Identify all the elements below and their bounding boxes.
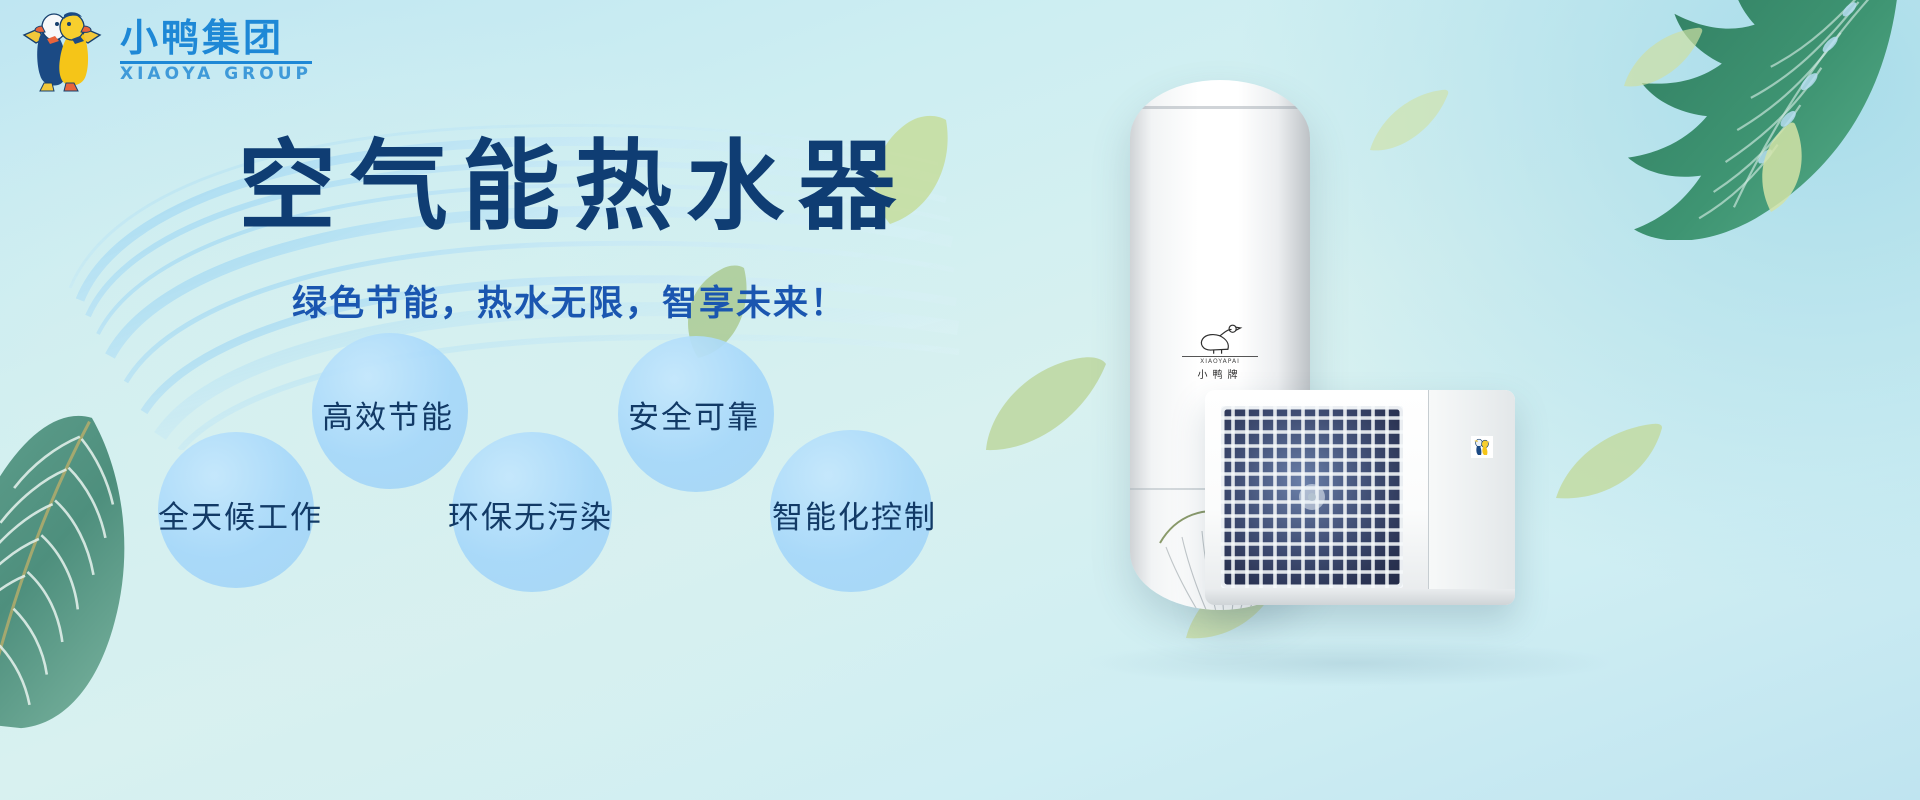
monstera-leaf-icon bbox=[1600, 0, 1920, 240]
tank-brand-cn: 小鸭牌 bbox=[1182, 366, 1258, 381]
feature-label-high-efficiency: 高效节能 bbox=[322, 392, 454, 437]
outdoor-side-panel bbox=[1428, 390, 1515, 605]
tank-brand-mark: XIAOYAPAI 小鸭牌 bbox=[1182, 323, 1258, 381]
tank-brand-en: XIAOYAPAI bbox=[1182, 356, 1258, 365]
logo-english-text: XIAOYA GROUP bbox=[120, 66, 312, 83]
fan-grille-lines-icon bbox=[1221, 406, 1403, 588]
duck-pair-badge-icon bbox=[1471, 436, 1493, 458]
duck-outline-icon bbox=[1190, 323, 1250, 355]
product-image: XIAOYAPAI 小鸭牌 bbox=[1085, 60, 1605, 680]
floating-leaf-icon bbox=[1745, 120, 1815, 216]
outdoor-unit bbox=[1205, 390, 1515, 605]
banner-root: 小鸭集团 XIAOYA GROUP 空气能热水器 绿色节能，热水无限，智享未来！… bbox=[0, 0, 1920, 800]
brand-logo[interactable]: 小鸭集团 XIAOYA GROUP bbox=[14, 8, 312, 94]
logo-chinese-text: 小鸭集团 bbox=[120, 19, 312, 59]
feature-label-eco-friendly: 环保无污染 bbox=[448, 492, 613, 537]
tank-top-band bbox=[1130, 106, 1310, 109]
outdoor-base bbox=[1205, 589, 1515, 605]
page-title: 空气能热水器 bbox=[238, 136, 910, 239]
feature-label-allweather: 全天候工作 bbox=[158, 492, 323, 537]
duck-pair-icon bbox=[14, 9, 110, 93]
feature-label-smart-control: 智能化控制 bbox=[772, 492, 937, 537]
feature-label-safe-reliable: 安全可靠 bbox=[628, 392, 760, 437]
banana-leaf-icon bbox=[0, 405, 210, 735]
page-subtitle: 绿色节能，热水无限，智享未来！ bbox=[292, 275, 847, 326]
floating-leaf-icon bbox=[1622, 24, 1706, 94]
